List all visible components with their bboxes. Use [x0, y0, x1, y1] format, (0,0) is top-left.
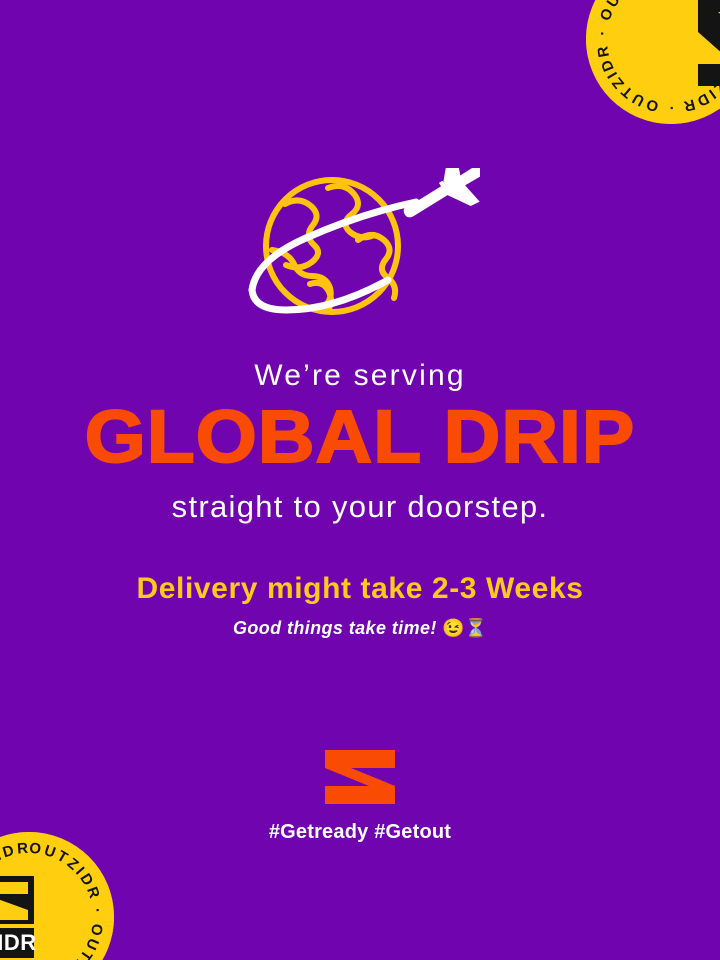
tagline: Good things take time! 😉⏳ — [0, 618, 720, 640]
hero-illustration — [0, 168, 720, 346]
brand-z-logo — [321, 748, 399, 806]
badge-wordmark: OUTZIDR — [0, 930, 37, 955]
delivery-estimate-text: Delivery might take 2-3 Weeks — [0, 572, 720, 605]
copy-block: We’re serving GLOBAL DRIP straight to yo… — [0, 360, 720, 640]
brand-badge-top-right: OUTZIDR · OUTZIDR · OUTZIDR · OUTZIDR · — [586, 0, 720, 124]
brand-badge-bottom-left: OUTZIDR · OUTZIDR · OUTZIDR · OUTZIDR · … — [0, 832, 114, 960]
poster-canvas: OUTZIDR · OUTZIDR · OUTZIDR · OUTZIDR · … — [0, 0, 720, 960]
tagline-text: Good things take time! — [233, 618, 437, 638]
footer-lockup: #Getready #Getout — [0, 748, 720, 844]
eyebrow-text: We’re serving — [0, 360, 720, 392]
page-title: GLOBAL DRIP — [0, 400, 720, 474]
subline-text: straight to your doorstep. — [0, 490, 720, 524]
badge-logo-plate: OUTZIDR — [0, 876, 37, 958]
airplane-icon — [391, 168, 480, 234]
hashtags-text: #Getready #Getout — [0, 821, 720, 844]
wink-hourglass-emoji: 😉⏳ — [442, 618, 487, 638]
